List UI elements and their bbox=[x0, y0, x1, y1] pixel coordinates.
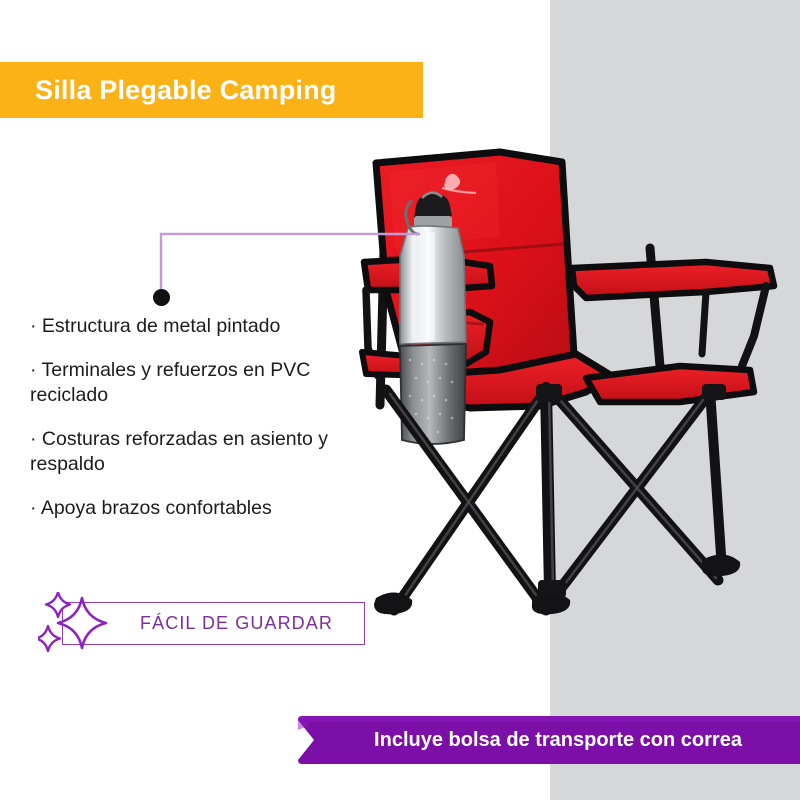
list-item: · Terminales y refuerzos en PVC reciclad… bbox=[30, 358, 360, 408]
bottom-banner-label: Incluye bolsa de transporte con correa bbox=[298, 716, 800, 764]
product-infographic: Silla Plegable Camping · Estructura de m… bbox=[0, 0, 800, 800]
product-image-folding-chair bbox=[350, 140, 790, 630]
list-item: · Estructura de metal pintado bbox=[30, 314, 360, 339]
title-banner: Silla Plegable Camping bbox=[0, 62, 423, 118]
easy-to-store-badge: FÁCIL DE GUARDAR bbox=[38, 592, 368, 654]
bottom-banner: Incluye bolsa de transporte con correa bbox=[298, 716, 800, 764]
page-title: Silla Plegable Camping bbox=[0, 75, 336, 106]
list-item: · Costuras reforzadas en asiento y respa… bbox=[30, 427, 360, 477]
sparkles-icon bbox=[38, 592, 122, 654]
water-bottle bbox=[400, 193, 466, 444]
list-item: · Apoya brazos confortables bbox=[30, 496, 360, 521]
badge-label: FÁCIL DE GUARDAR bbox=[94, 613, 333, 634]
feature-list: · Estructura de metal pintado · Terminal… bbox=[30, 314, 360, 521]
callout-dot bbox=[153, 289, 170, 306]
